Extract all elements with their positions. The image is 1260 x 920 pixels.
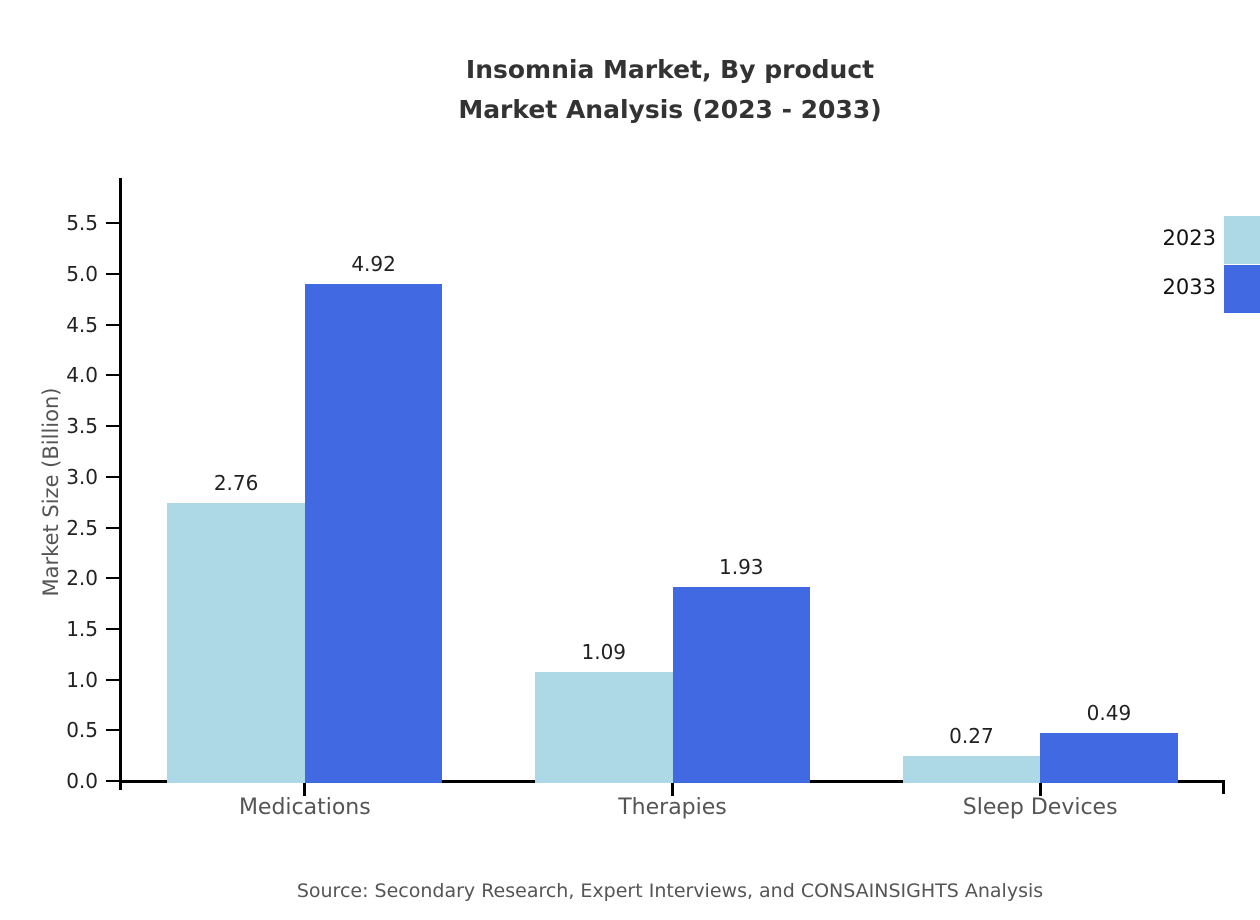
x-axis-category-label: Medications	[145, 795, 465, 820]
x-axis-tick-mark	[303, 782, 306, 796]
bar-value-label: 0.49	[1009, 701, 1209, 725]
y-axis-tick-mark	[106, 780, 122, 782]
bar-value-label: 1.93	[641, 555, 841, 579]
legend-swatch-2023	[1224, 216, 1260, 264]
y-axis-tick-label: 0.0	[66, 771, 98, 791]
x-axis-end-tick	[1222, 780, 1225, 794]
y-axis-tick-mark	[106, 222, 122, 224]
bar-medications-2023[interactable]	[167, 503, 305, 783]
y-axis-tick-mark	[106, 729, 122, 731]
legend-swatch-2033	[1224, 265, 1260, 313]
plot-area: 2.764.921.091.930.270.49	[121, 178, 1224, 782]
y-axis-tick-label: 0.5	[66, 720, 98, 740]
bar-sleep-devices-2023[interactable]	[903, 756, 1041, 783]
bar-sleep-devices-2033[interactable]	[1040, 733, 1178, 783]
y-axis-tick-mark	[106, 679, 122, 681]
bar-therapies-2023[interactable]	[535, 672, 673, 783]
chart-title-line-2: Market Analysis (2023 - 2033)	[0, 90, 1260, 130]
legend-label-2023: 2023	[1130, 226, 1216, 250]
y-axis-title: Market Size (Billion)	[39, 282, 63, 702]
y-axis-tick-mark	[106, 628, 122, 630]
bar-value-label: 4.92	[274, 252, 474, 276]
x-axis-category-label: Therapies	[513, 795, 833, 820]
y-axis-tick-label: 3.0	[66, 467, 98, 487]
y-axis-tick-label: 1.0	[66, 670, 98, 690]
y-axis-tick-label: 3.5	[66, 416, 98, 436]
y-axis-tick-label: 5.5	[66, 213, 98, 233]
y-axis-tick-label: 2.5	[66, 518, 98, 538]
y-axis-tick-mark	[106, 324, 122, 326]
y-axis-tick-label: 2.0	[66, 568, 98, 588]
y-axis-tick-mark	[106, 527, 122, 529]
y-axis-tick-label: 5.0	[66, 264, 98, 284]
legend-item-2023[interactable]: 2023	[1130, 216, 1260, 264]
y-axis-tick-mark	[106, 476, 122, 478]
source-note: Source: Secondary Research, Expert Inter…	[0, 880, 1260, 902]
y-axis-tick-label: 4.0	[66, 365, 98, 385]
chart-title-line-1: Insomnia Market, By product	[0, 50, 1260, 90]
y-axis-tick-mark	[106, 374, 122, 376]
y-axis-tick-label: 4.5	[66, 315, 98, 335]
legend-item-2033[interactable]: 2033	[1130, 265, 1260, 313]
bar-medications-2033[interactable]	[305, 284, 443, 783]
x-axis-tick-mark	[671, 782, 674, 796]
y-axis-tick-mark	[106, 273, 122, 275]
legend-label-2033: 2033	[1130, 275, 1216, 299]
y-axis-tick-mark	[106, 577, 122, 579]
y-axis-tick-mark	[106, 425, 122, 427]
chart-title: Insomnia Market, By product Market Analy…	[0, 50, 1260, 130]
x-axis-category-label: Sleep Devices	[880, 795, 1200, 820]
bar-therapies-2033[interactable]	[673, 587, 811, 783]
x-axis-tick-mark	[1039, 782, 1042, 796]
y-axis-tick-label: 1.5	[66, 619, 98, 639]
